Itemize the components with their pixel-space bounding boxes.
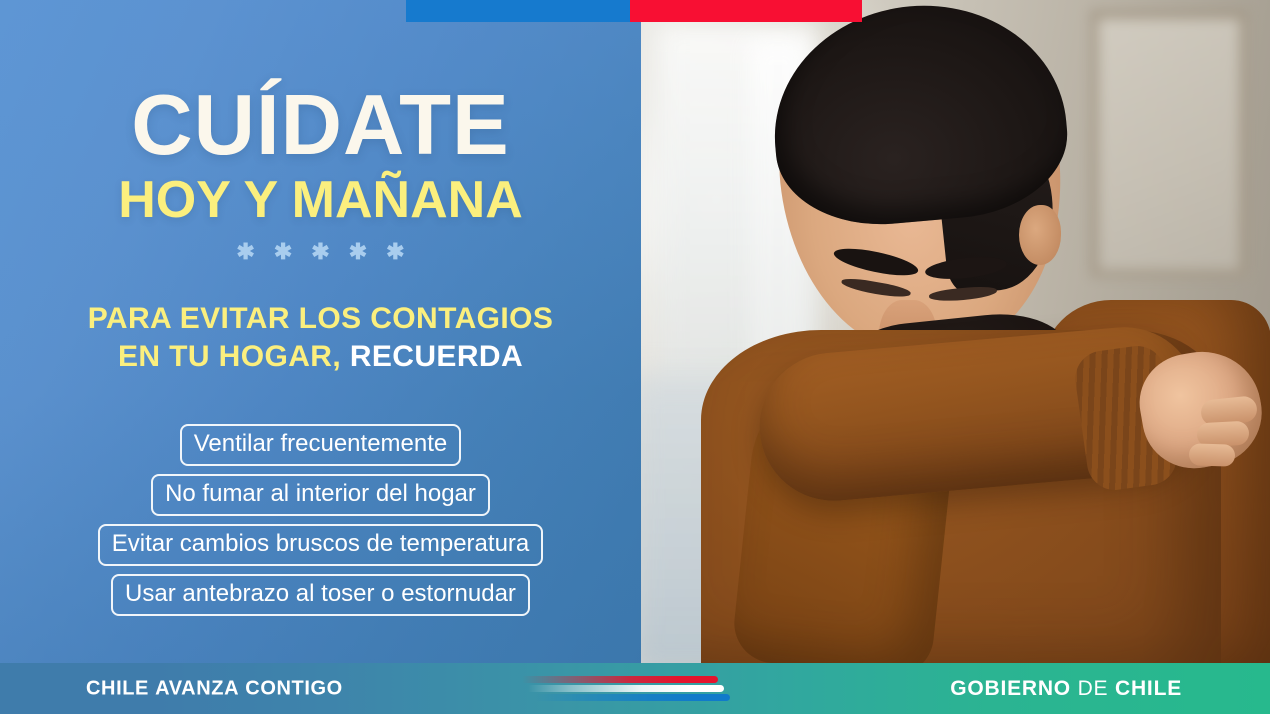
kicker-highlight-text: EN TU HOGAR, <box>118 340 341 373</box>
top-bar-blue-segment <box>406 0 630 22</box>
kicker-line-1: PARA EVITAR LOS CONTAGIOS <box>0 300 641 338</box>
separator-asterisk-icon: ✱ <box>274 241 292 263</box>
top-bar-red-segment <box>630 0 862 22</box>
photo-ear <box>1019 205 1061 265</box>
recommendation-pill: Ventilar frecuentemente <box>180 424 462 466</box>
recommendation-pill: Evitar cambios bruscos de temperatura <box>98 524 544 566</box>
ribbon-stripe-white <box>528 685 724 692</box>
public-health-poster: CUÍDATE HOY Y MAÑANA ✱✱✱✱✱ PARA EVITAR L… <box>0 0 1270 714</box>
separator-asterisk-icon: ✱ <box>311 241 329 263</box>
page-subtitle: HOY Y MAÑANA <box>0 173 641 228</box>
recommendation-list: Ventilar frecuentementeNo fumar al inter… <box>0 424 641 616</box>
recommendation-pill: Usar antebrazo al toser o estornudar <box>111 574 530 616</box>
top-flag-bar <box>406 0 862 22</box>
kicker-line-2: EN TU HOGAR, RECUERDA <box>0 338 641 376</box>
footer-brand-part-2: CHILE <box>1115 677 1182 700</box>
chile-flag-ribbon-icon <box>522 672 740 706</box>
footer-government-brand: GOBIERNO DE CHILE <box>950 677 1182 701</box>
recommendation-pill: No fumar al interior del hogar <box>151 474 490 516</box>
footer-brand-connector: DE <box>1071 677 1115 700</box>
headline-block: CUÍDATE HOY Y MAÑANA ✱✱✱✱✱ <box>0 86 641 263</box>
kicker-white-text: RECUERDA <box>350 340 523 373</box>
photo-finger <box>1189 443 1236 467</box>
decorative-separator: ✱✱✱✱✱ <box>0 241 641 263</box>
separator-asterisk-icon: ✱ <box>236 241 254 263</box>
photo-man-coughing-into-elbow <box>641 0 1270 666</box>
footer-brand-part-1: GOBIERNO <box>950 677 1071 700</box>
footer-slogan: CHILE AVANZA CONTIGO <box>86 677 343 700</box>
footer-bar: CHILE AVANZA CONTIGO GOBIERNO DE CHILE <box>0 663 1270 714</box>
ribbon-stripe-red <box>522 676 718 683</box>
kicker-block: PARA EVITAR LOS CONTAGIOS EN TU HOGAR, R… <box>0 300 641 377</box>
footer-slogan-part-2: CONTIGO <box>239 677 343 699</box>
photo-subject-man <box>641 0 1270 666</box>
separator-asterisk-icon: ✱ <box>386 241 404 263</box>
footer-slogan-bold: AVANZA <box>155 677 239 699</box>
footer-slogan-part-1: CHILE <box>86 677 155 699</box>
ribbon-stripe-blue <box>534 694 730 701</box>
separator-asterisk-icon: ✱ <box>349 241 367 263</box>
page-title: CUÍDATE <box>0 86 641 167</box>
